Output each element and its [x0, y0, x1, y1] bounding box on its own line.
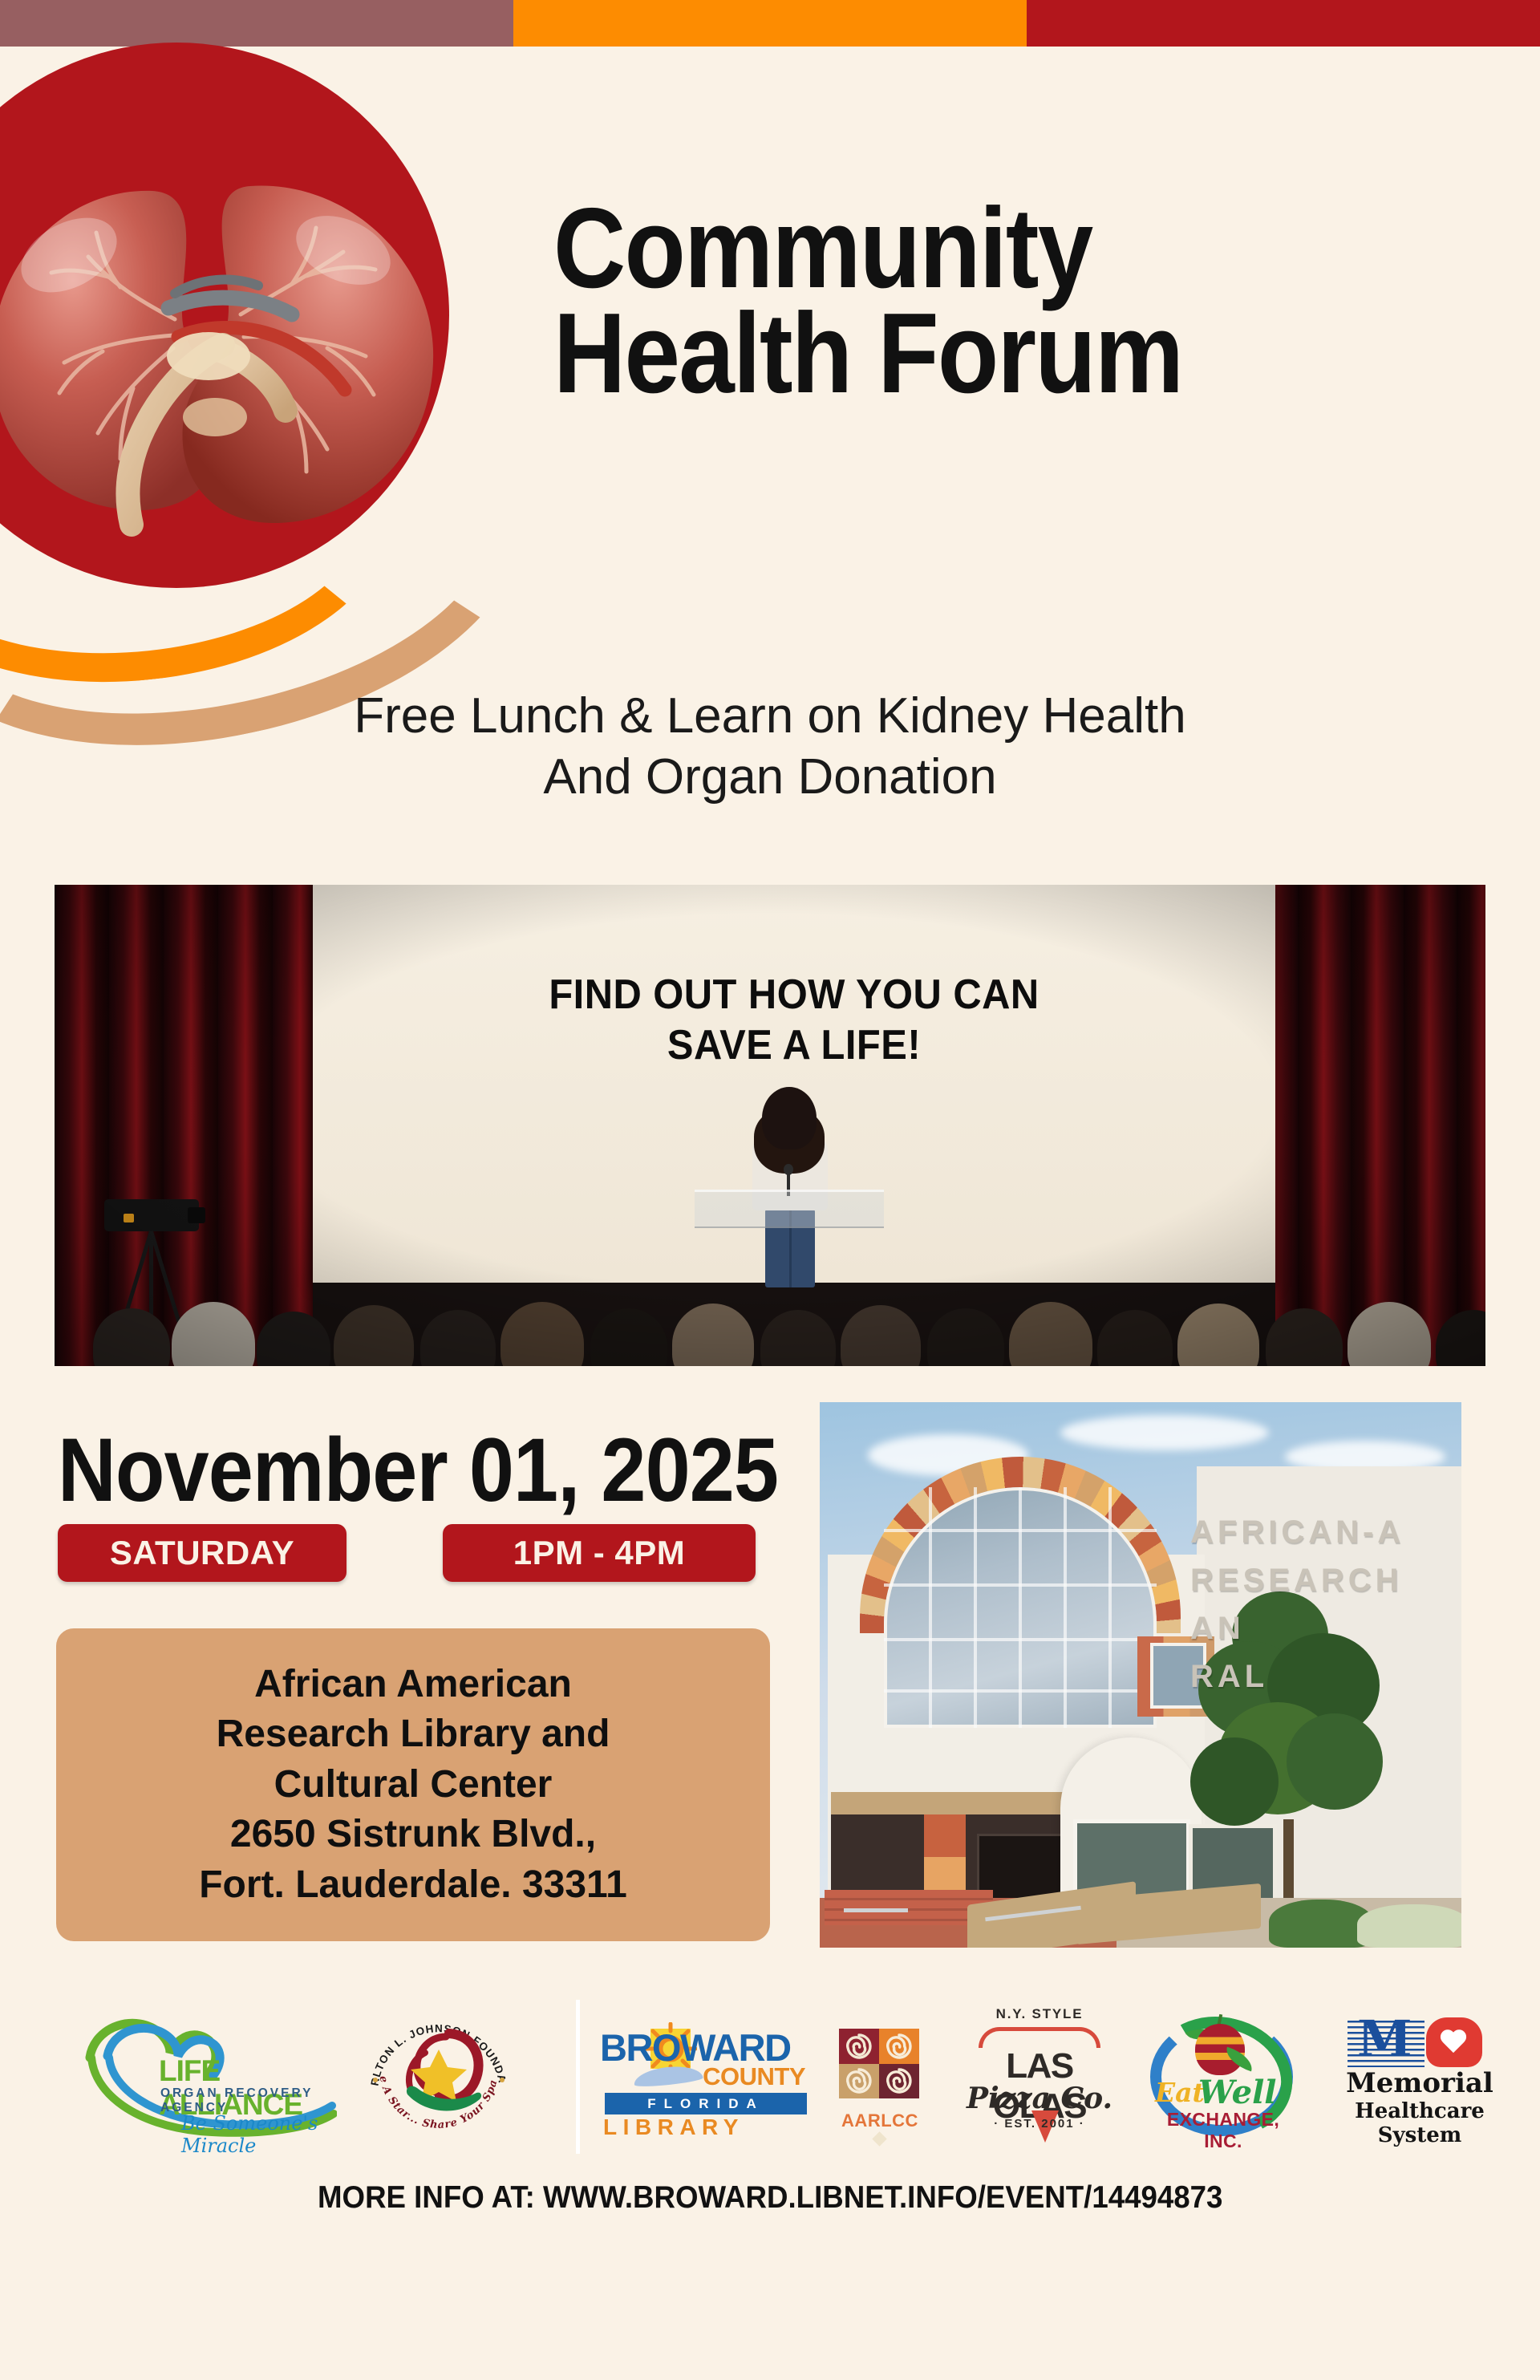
venue-line-1: African American — [254, 1660, 572, 1709]
audience-head — [93, 1308, 170, 1366]
audience-head — [334, 1305, 414, 1366]
subtitle-line-2: And Organ Donation — [0, 747, 1540, 808]
signage-line-4: RAL — [1190, 1652, 1455, 1701]
audience-head — [927, 1308, 1004, 1366]
window-mullion-grid — [884, 1487, 1157, 1728]
eatwell-word-3: EXCHANGE, INC. — [1152, 2109, 1295, 2152]
pizza-crust-arc — [979, 2027, 1100, 2048]
sponsor-logo-las-olas-pizza: N.Y. STYLE LAS OLAS Pizza Co. · EST. 200… — [959, 2005, 1120, 2149]
sponsor-logo-charlton-l-johnson-foundation: CHARLTON L. JOHNSON FOUNDATION Be A Star… — [363, 2000, 515, 2152]
aarlcc-label: AARLCC — [828, 2110, 932, 2131]
sponsor-logo-broward-county-library: BROWARD COUNTY FLORIDA LIBRARY — [600, 2025, 808, 2130]
eatwell-word-2: Well — [1198, 2074, 1277, 2111]
audience-head — [841, 1305, 921, 1366]
camera-body — [104, 1199, 199, 1231]
footer-more-info: MORE INFO AT: WWW.BROWARD.LIBNET.INFO/EV… — [0, 2180, 1540, 2216]
apple-icon — [1195, 2024, 1245, 2075]
top-bar-segment-mauve — [0, 0, 513, 47]
day-badge: SATURDAY — [58, 1524, 346, 1582]
memorial-line-2: Healthcare System — [1339, 2099, 1500, 2147]
aarlcc-quadrant — [879, 2029, 919, 2064]
top-bar-segment-orange — [513, 0, 1027, 47]
aarlcc-quadrant — [839, 2029, 879, 2064]
sponsor-logo-eat-well-exchange: Eat Well EXCHANGE, INC. — [1145, 2009, 1298, 2146]
audience-head — [172, 1302, 255, 1366]
logo-divider — [576, 2000, 580, 2154]
building-signage: AFRICAN-A RESEARCH AN RAL — [1190, 1508, 1455, 1701]
audience-head — [420, 1310, 496, 1366]
event-badges: SATURDAY 1PM - 4PM — [58, 1524, 780, 1587]
cloud — [1060, 1415, 1269, 1450]
aarlcc-spiral-mark — [839, 2029, 919, 2109]
audience-head — [760, 1310, 836, 1366]
entry-canopy — [831, 1792, 1072, 1814]
audience-head — [672, 1304, 754, 1366]
broward-line-3: FLORIDA — [605, 2093, 807, 2114]
bike-rack-railing — [844, 1908, 908, 1912]
audience-head — [1097, 1310, 1173, 1366]
time-badge: 1PM - 4PM — [443, 1524, 756, 1582]
audience-head — [1436, 1310, 1485, 1366]
footer-url-text: MORE INFO AT: WWW.BROWARD.LIBNET.INFO/EV… — [318, 2180, 1222, 2216]
screen-text-line-2: SAVE A LIFE! — [342, 1020, 1246, 1071]
signage-line-2: RESEARCH — [1190, 1556, 1455, 1604]
arched-glass-window — [884, 1487, 1157, 1728]
aarlcc-quadrant — [879, 2064, 919, 2099]
camera-tally-light — [124, 1214, 134, 1222]
broward-line-2: COUNTY — [703, 2062, 805, 2091]
memorial-m-mark: M — [1357, 2014, 1412, 2064]
hero-kidney-graphic — [0, 47, 610, 688]
life-alliance-subtitle: ORGAN RECOVERY AGENCY — [160, 2086, 337, 2115]
venue-line-2: Research Library and — [217, 1709, 610, 1759]
audience-head — [257, 1312, 330, 1366]
conference-photo: FIND OUT HOW YOU CAN SAVE A LIFE! — [55, 885, 1485, 1366]
screen-text: FIND OUT HOW YOU CAN SAVE A LIFE! — [313, 970, 1275, 1072]
audience-head — [1177, 1304, 1259, 1366]
las-olas-est: · EST. 2001 · — [959, 2117, 1120, 2131]
kidneys-icon — [0, 135, 465, 584]
eatwell-word-1: Eat — [1155, 2077, 1205, 2108]
audience — [55, 1262, 1485, 1366]
screen-text-line-1: FIND OUT HOW YOU CAN — [342, 970, 1246, 1020]
sponsor-logo-memorial-healthcare: M Memorial Healthcare System — [1339, 2014, 1500, 2139]
venue-address-block: African American Research Library and Cu… — [56, 1628, 770, 1941]
audience-head — [500, 1302, 584, 1366]
memorial-line-1: Memorial — [1339, 2067, 1500, 2099]
aarlcc-center-diamond — [872, 2131, 886, 2146]
camera-lens — [188, 1207, 205, 1223]
audience-head — [1009, 1302, 1092, 1366]
life-alliance-tagline: Be Someone's Miracle — [181, 2112, 337, 2157]
shrub — [1357, 1904, 1461, 1948]
speaker-at-podium — [725, 1087, 853, 1287]
venue-building-photo: AFRICAN-A RESEARCH AN RAL — [820, 1402, 1461, 1948]
signage-line-3: AN — [1190, 1604, 1455, 1652]
sponsor-logo-life-alliance: LIFE ALLIANCE ORGAN RECOVERY AGENCY Be S… — [80, 2011, 337, 2139]
aarlcc-quadrant — [839, 2064, 879, 2099]
broward-line-4: LIBRARY — [603, 2114, 744, 2140]
top-color-bar — [0, 0, 1540, 47]
audience-head — [590, 1308, 667, 1366]
event-date: November 01, 2025 — [58, 1418, 778, 1522]
speaker-hair-top — [762, 1087, 817, 1149]
signage-line-1: AFRICAN-A — [1190, 1508, 1455, 1556]
venue-line-4: 2650 Sistrunk Blvd., — [230, 1810, 596, 1859]
subtitle-line-1: Free Lunch & Learn on Kidney Health — [0, 686, 1540, 747]
title-line-2: Health Forum — [553, 302, 1386, 407]
venue-line-3: Cultural Center — [274, 1760, 553, 1810]
top-bar-segment-red — [1027, 0, 1540, 47]
heart-icon — [1439, 2030, 1468, 2056]
subtitle: Free Lunch & Learn on Kidney Health And … — [0, 686, 1540, 807]
audience-head — [1347, 1302, 1431, 1366]
las-olas-top-text: N.Y. STYLE — [959, 2006, 1120, 2022]
sponsor-logo-aarlcc: AARLCC — [828, 2029, 932, 2131]
venue-line-5: Fort. Lauderdale. 33311 — [199, 1860, 627, 1910]
acrylic-podium — [695, 1190, 884, 1228]
sponsor-logo-strip: LIFE ALLIANCE ORGAN RECOVERY AGENCY Be S… — [0, 1993, 1540, 2162]
page-title: Community Health Forum — [553, 197, 1500, 406]
audience-head — [1266, 1308, 1343, 1366]
title-line-1: Community — [553, 197, 1386, 302]
